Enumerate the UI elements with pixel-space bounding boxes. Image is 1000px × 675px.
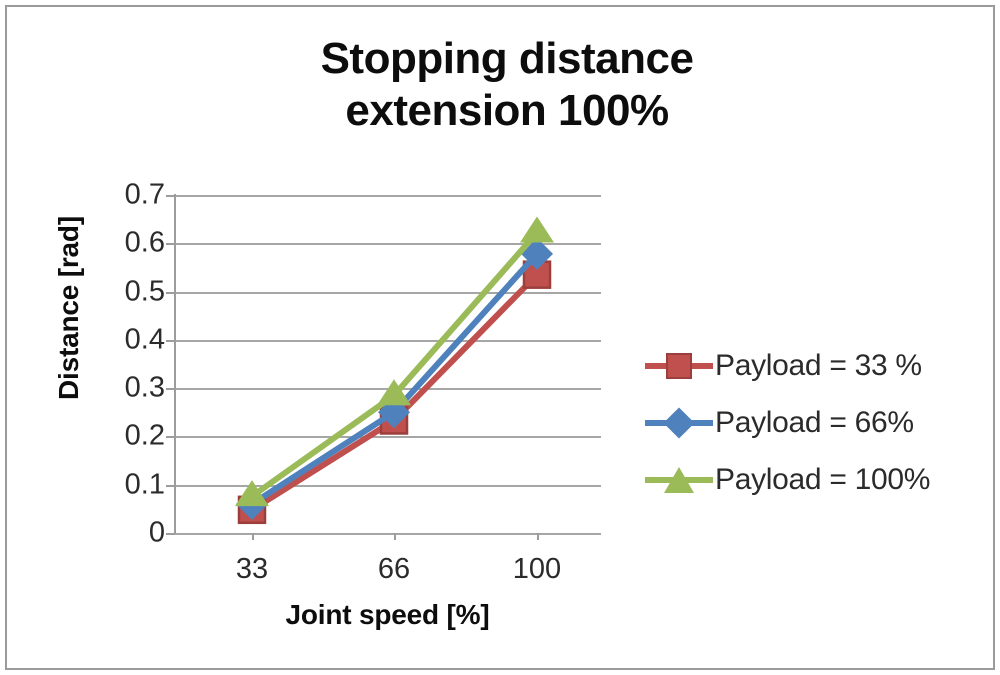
legend-label: Payload = 33 % — [715, 349, 922, 383]
y-axis-tick — [166, 340, 174, 342]
chart-title-line-2: extension 100% — [147, 85, 867, 137]
series-plot — [174, 195, 601, 533]
legend-item-payload-66[interactable]: Payload = 66% — [643, 394, 993, 451]
y-axis-tick — [166, 533, 174, 535]
x-tick-label: 100 — [477, 555, 597, 584]
y-tick-label: 0.4 — [75, 325, 165, 354]
y-axis-tick — [166, 195, 174, 197]
y-tick-label: 0.2 — [75, 422, 165, 451]
y-axis-tick — [166, 243, 174, 245]
series-3 — [235, 217, 554, 507]
y-tick-label: 0.5 — [75, 277, 165, 306]
x-tick-label: 66 — [334, 555, 454, 584]
x-axis-tick — [252, 533, 254, 540]
y-axis-tick — [166, 485, 174, 487]
legend-label: Payload = 100% — [715, 463, 930, 497]
y-axis-tick — [166, 388, 174, 390]
legend-marker-triangle-icon — [643, 463, 715, 497]
chart-legend: Payload = 33 % Payload = 66% Payload = 1… — [643, 337, 993, 508]
legend-item-payload-33[interactable]: Payload = 33 % — [643, 337, 993, 394]
x-axis-title: Joint speed [%] — [174, 599, 601, 631]
y-tick-label: 0.1 — [75, 470, 165, 499]
y-axis-tick — [166, 436, 174, 438]
y-tick-label: 0.6 — [75, 229, 165, 258]
legend-marker-diamond-icon — [643, 406, 715, 440]
series-2 — [236, 238, 553, 520]
series-line — [252, 233, 537, 497]
data-point-marker-triangle — [520, 217, 554, 243]
legend-label: Payload = 66% — [715, 406, 914, 440]
image-border: Stopping distance extension 100% Distanc… — [0, 0, 1000, 675]
y-tick-label: 0.3 — [75, 374, 165, 403]
x-tick-label: 33 — [192, 555, 312, 584]
y-tick-label: 0 — [75, 519, 165, 548]
chart-title-line-1: Stopping distance — [147, 33, 867, 85]
chart-title: Stopping distance extension 100% — [147, 33, 867, 137]
plot-area — [174, 195, 601, 533]
legend-marker-square-icon — [643, 349, 715, 383]
legend-item-payload-100[interactable]: Payload = 100% — [643, 451, 993, 508]
x-axis-tick — [394, 533, 396, 540]
chart-canvas: Stopping distance extension 100% Distanc… — [7, 7, 993, 668]
x-axis-tick — [537, 533, 539, 540]
y-tick-label: 0.7 — [75, 181, 165, 210]
y-axis-tick-labels: 0.7 0.6 0.5 0.4 0.3 0.2 0.1 0 — [69, 195, 165, 535]
y-axis-tick — [166, 292, 174, 294]
